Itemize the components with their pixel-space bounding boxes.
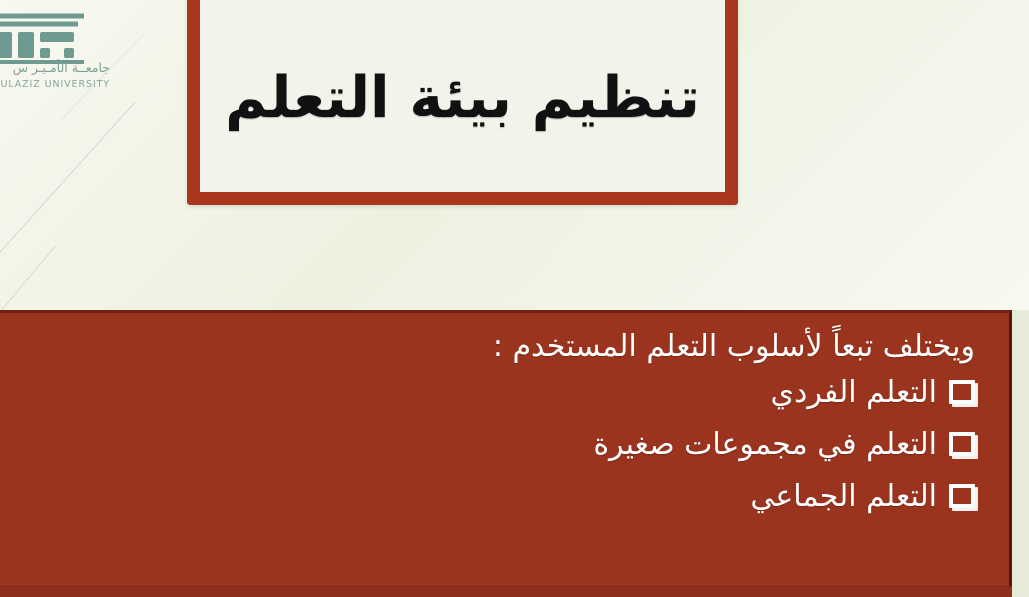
hollow-square-bullet-icon <box>949 380 975 404</box>
university-logo: جامعــة الأمـيـر س ABDULAZIZ UNIVERSITY <box>0 8 116 100</box>
presentation-slide: جامعــة الأمـيـر س ABDULAZIZ UNIVERSITY … <box>0 0 1029 597</box>
panel-bottom-shade <box>0 586 1012 597</box>
list-item-label: التعلم في مجموعات صغيرة <box>593 430 937 460</box>
hollow-square-bullet-icon <box>949 484 975 508</box>
university-logo-mark <box>0 10 92 66</box>
list-item-label: التعلم الجماعي <box>750 482 937 512</box>
university-logo-arabic-text: جامعــة الأمـيـر س <box>13 62 110 75</box>
panel-right-margin-strip <box>1012 310 1029 597</box>
list-item: التعلم في مجموعات صغيرة <box>0 430 975 460</box>
list-item: التعلم الفردي <box>0 378 975 408</box>
slide-title: تنظيم بيئة التعلم <box>225 60 700 132</box>
university-logo-english-text: ABDULAZIZ UNIVERSITY <box>0 80 110 90</box>
decorative-diagonal-line <box>0 246 56 317</box>
learning-styles-list: التعلم الفردي التعلم في مجموعات صغيرة ال… <box>0 378 987 512</box>
slide-title-card: تنظيم بيئة التعلم <box>187 0 738 205</box>
list-item-label: التعلم الفردي <box>771 378 937 408</box>
content-panel: ويختلف تبعاً لأسلوب التعلم المستخدم : ال… <box>0 310 1012 597</box>
decorative-diagonal-line <box>0 102 135 259</box>
content-lede: ويختلف تبعاً لأسلوب التعلم المستخدم : <box>0 329 987 364</box>
hollow-square-bullet-icon <box>949 432 975 456</box>
list-item: التعلم الجماعي <box>0 482 975 512</box>
